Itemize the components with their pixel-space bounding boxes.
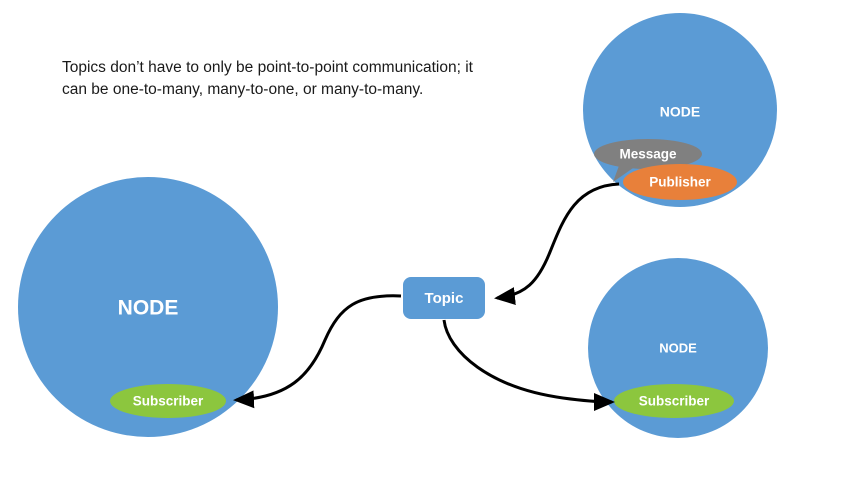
subscriber-bottom-right-label: Subscriber [639,394,710,409]
arrow-topic-to-subscriber-bottom-right [444,320,612,402]
publisher-pill[interactable]: Publisher [623,164,737,200]
slide-canvas: Topics don’t have to only be point-to-po… [0,0,854,480]
subscriber-left-label: Subscriber [133,394,204,409]
node-top-right-label: NODE [660,104,700,120]
arrow-publisher-to-topic [497,184,619,298]
diagram-svg: NODE NODE NODE Message Publisher Subscri… [0,0,854,480]
node-bottom-right-label: NODE [659,340,697,355]
topic-box[interactable]: Topic [403,277,485,319]
node-left-label: NODE [118,297,179,320]
message-label: Message [619,147,677,162]
subscriber-pill-left[interactable]: Subscriber [110,384,226,418]
topic-label: Topic [425,290,464,307]
subscriber-pill-bottom-right[interactable]: Subscriber [614,384,734,418]
publisher-label: Publisher [649,175,711,190]
